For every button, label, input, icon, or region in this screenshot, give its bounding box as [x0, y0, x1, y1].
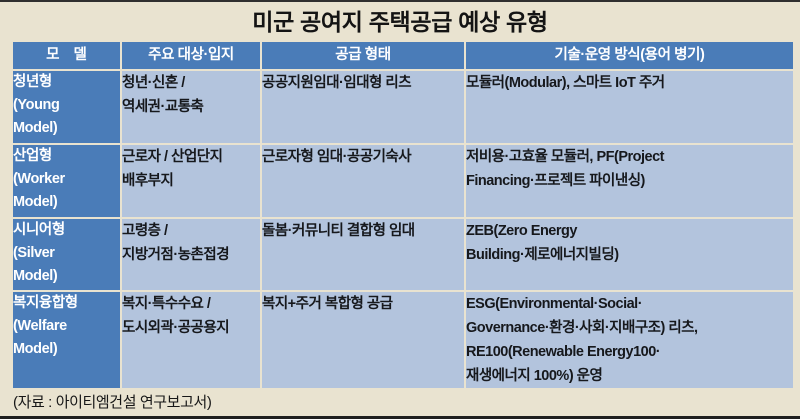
cell-line: 근로자 / 산업단지 — [122, 145, 260, 169]
cell-line: 청년·신혼 / — [122, 71, 260, 95]
column-header-target: 주요 대상·입지 — [122, 42, 260, 69]
cell-supply: 공공지원임대·임대형 리츠 — [262, 71, 464, 143]
cell-line: 배후부지 — [122, 169, 260, 193]
cell-line: 고령층 / — [122, 219, 260, 243]
cell-line: Model) — [13, 191, 120, 214]
cell-line: 산업형 — [13, 145, 120, 168]
cell-line: (Welfare — [13, 315, 120, 338]
page-title: 미군 공여지 주택공급 예상 유형 — [0, 8, 800, 36]
cell-line: Governance·환경·사회·지배구조) 리츠, — [466, 316, 793, 340]
cell-tech: ZEB(Zero Energy Building·제로에너지빌딩) — [466, 219, 793, 290]
table-row: 시니어형 (Silver Model) 고령층 / 지방거점·농촌접경 돌봄·커… — [13, 219, 793, 290]
cell-line: Financing·프로젝트 파이낸싱) — [466, 169, 793, 193]
cell-line: ESG(Environmental·Social· — [466, 292, 793, 316]
cell-line: 청년형 — [13, 71, 120, 94]
cell-tech: 모듈러(Modular), 스마트 IoT 주거 — [466, 71, 793, 143]
column-header-model: 모 델 — [13, 42, 120, 69]
cell-line: (Worker — [13, 168, 120, 191]
cell-line: 지방거점·농촌접경 — [122, 243, 260, 267]
cell-line: 모듈러(Modular), 스마트 IoT 주거 — [466, 71, 793, 95]
cell-line: 복지+주거 복합형 공급 — [262, 292, 464, 316]
cell-line: 돌봄·커뮤니티 결합형 임대 — [262, 219, 464, 243]
table-row: 복지융합형 (Welfare Model) 복지·특수수요 / 도시외곽·공공용… — [13, 292, 793, 388]
cell-supply: 근로자형 임대·공공기숙사 — [262, 145, 464, 217]
table-row: 청년형 (Young Model) 청년·신혼 / 역세권·교통축 공공지원임대… — [13, 71, 793, 143]
cell-model: 시니어형 (Silver Model) — [13, 219, 120, 290]
cell-line: RE100(Renewable Energy100· — [466, 340, 793, 364]
cell-line: Building·제로에너지빌딩) — [466, 243, 793, 267]
cell-line: 시니어형 — [13, 219, 120, 242]
cell-line: 복지·특수수요 / — [122, 292, 260, 316]
cell-target: 청년·신혼 / 역세권·교통축 — [122, 71, 260, 143]
table-body: 청년형 (Young Model) 청년·신혼 / 역세권·교통축 공공지원임대… — [13, 71, 793, 388]
data-table-container: 모 델 주요 대상·입지 공급 형태 기술·운영 방식(용어 병기) 청년형 (… — [11, 40, 789, 390]
table-header: 모 델 주요 대상·입지 공급 형태 기술·운영 방식(용어 병기) — [13, 42, 793, 69]
source-note: (자료 : 아이티엠건설 연구보고서) — [13, 391, 211, 412]
cell-line: Model) — [13, 338, 120, 361]
cell-line: 재생에너지 100%) 운영 — [466, 364, 793, 388]
infographic-table-page: 미군 공여지 주택공급 예상 유형 모 델 주요 대상·입지 공급 형태 기술·… — [0, 2, 800, 416]
cell-line: 저비용·고효율 모듈러, PF(Project — [466, 145, 793, 169]
column-header-tech: 기술·운영 방식(용어 병기) — [466, 42, 793, 69]
cell-target: 근로자 / 산업단지 배후부지 — [122, 145, 260, 217]
cell-line: (Young — [13, 94, 120, 117]
cell-line: 복지융합형 — [13, 292, 120, 315]
cell-model: 복지융합형 (Welfare Model) — [13, 292, 120, 388]
cell-line: 역세권·교통축 — [122, 95, 260, 119]
table-header-row: 모 델 주요 대상·입지 공급 형태 기술·운영 방식(용어 병기) — [13, 42, 793, 69]
cell-line: 공공지원임대·임대형 리츠 — [262, 71, 464, 95]
cell-target: 고령층 / 지방거점·농촌접경 — [122, 219, 260, 290]
cell-model: 청년형 (Young Model) — [13, 71, 120, 143]
cell-line: Model) — [13, 117, 120, 140]
cell-line: 근로자형 임대·공공기숙사 — [262, 145, 464, 169]
column-header-supply: 공급 형태 — [262, 42, 464, 69]
cell-tech: ESG(Environmental·Social· Governance·환경·… — [466, 292, 793, 388]
cell-line: Model) — [13, 265, 120, 288]
cell-line: 도시외곽·공공용지 — [122, 316, 260, 340]
cell-target: 복지·특수수요 / 도시외곽·공공용지 — [122, 292, 260, 388]
cell-supply: 돌봄·커뮤니티 결합형 임대 — [262, 219, 464, 290]
cell-line: ZEB(Zero Energy — [466, 219, 793, 243]
housing-supply-table: 모 델 주요 대상·입지 공급 형태 기술·운영 방식(용어 병기) 청년형 (… — [11, 40, 795, 390]
cell-model: 산업형 (Worker Model) — [13, 145, 120, 217]
cell-tech: 저비용·고효율 모듈러, PF(Project Financing·프로젝트 파… — [466, 145, 793, 217]
cell-supply: 복지+주거 복합형 공급 — [262, 292, 464, 388]
cell-line: (Silver — [13, 242, 120, 265]
table-row: 산업형 (Worker Model) 근로자 / 산업단지 배후부지 근로자형 … — [13, 145, 793, 217]
